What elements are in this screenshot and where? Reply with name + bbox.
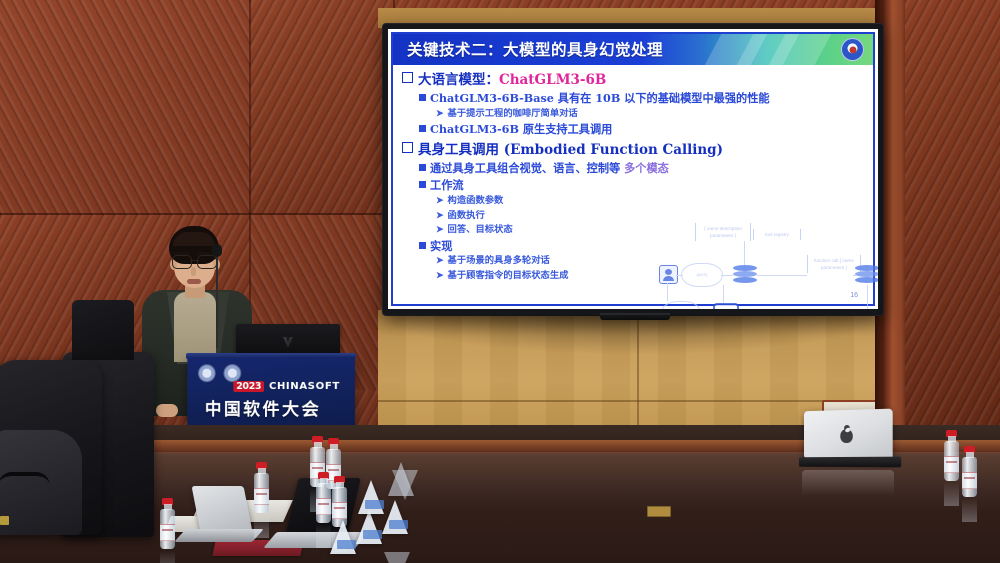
name-card-holder xyxy=(382,500,408,534)
wood-panel-seam-h xyxy=(378,400,898,402)
bullet-text: 大语言模型： xyxy=(418,72,499,88)
edge-user-answer xyxy=(667,283,668,301)
bullet-text: 基于顾客指令的目标状态生成 xyxy=(448,270,569,281)
bullet-highlight: ChatGLM3-6B xyxy=(499,72,606,88)
edge-db-fc xyxy=(757,275,807,276)
bullet-text: 函数执行 xyxy=(448,210,485,221)
bullet-l3-prompt-dialog: ➤基于提示工程的咖啡厅简单对话 xyxy=(436,107,868,122)
microphone-icon xyxy=(212,244,222,257)
arrow-bullet-icon: ➤ xyxy=(436,210,444,224)
arrow-bullet-icon: ➤ xyxy=(436,255,444,269)
query-cloud: query xyxy=(681,263,723,287)
bullet-l3-build-params: ➤构造函数参数 xyxy=(436,194,868,209)
podium-english-title: CHINASOFT xyxy=(269,381,340,392)
arrow-bullet-icon: ➤ xyxy=(436,108,444,122)
wall-panel-right xyxy=(905,0,1000,430)
bullet-l3-exec: ➤函数执行 xyxy=(436,209,868,224)
bullet-text: 实现 xyxy=(430,239,452,253)
backpack-logo xyxy=(0,516,9,525)
arrow-bullet-icon: ➤ xyxy=(436,224,444,238)
table-nameplate xyxy=(647,506,671,517)
speaker-shirt xyxy=(174,292,216,362)
bullet-text: 回答、目标状态 xyxy=(448,224,513,235)
bullet-highlight: 多个模态 xyxy=(624,161,669,175)
presentation-display: 关键技术二：大模型的具身幻觉处理 大语言模型：ChatGLM3-6B ChatG… xyxy=(383,24,883,315)
name-card-reflection xyxy=(384,552,410,563)
bullet-text: 基于提示工程的咖啡厅简单对话 xyxy=(448,108,578,119)
bullet-l2-workflow: 工作流 xyxy=(419,177,868,194)
wall-panel-upper-mid xyxy=(250,0,395,215)
backpack-strap xyxy=(0,472,50,486)
apple-logo-icon xyxy=(840,429,853,443)
slide-title: 关键技术二：大模型的具身幻觉处理 xyxy=(407,36,663,64)
database-cylinder-2 xyxy=(855,265,878,284)
bullet-text: 工作流 xyxy=(430,178,464,192)
bullet-text: 通过具身工具组合视觉、语言、控制等 xyxy=(430,161,624,175)
macbook-base xyxy=(799,457,901,468)
macbook-lid xyxy=(804,409,893,462)
speaker-glasses xyxy=(171,255,218,267)
slide-canvas: 关键技术二：大模型的具身幻觉处理 大语言模型：ChatGLM3-6B ChatG… xyxy=(388,29,878,309)
slide-page-number: 16 xyxy=(850,292,858,299)
name-card-holder xyxy=(330,520,356,554)
bullet-text: ChatGLM3-6B-Base 具有在 10B 以下的基础模型中最强的性能 xyxy=(430,91,770,105)
edge-schema-db xyxy=(744,241,745,265)
tool-schema-box: { name description parameters } xyxy=(695,223,751,241)
answer-cloud: answer xyxy=(661,301,701,309)
display-stand xyxy=(600,313,670,320)
arrow-bullet-icon: ➤ xyxy=(436,195,444,209)
institution-seal-logo xyxy=(841,38,864,61)
wood-panel-seam-v xyxy=(637,316,639,428)
solid-square-bullet-icon xyxy=(419,181,426,188)
podium-seal-right xyxy=(224,365,240,381)
bullet-text: 基于场景的具身多轮对话 xyxy=(448,255,550,266)
open-laptop xyxy=(196,486,248,532)
podium-seal-left xyxy=(199,365,215,381)
solid-square-bullet-icon xyxy=(419,242,426,249)
name-card-holder xyxy=(358,480,384,514)
edge-fc-db2 xyxy=(853,275,857,276)
arrow-bullet-icon: ➤ xyxy=(436,270,444,284)
bullet-text: ChatGLM3-6B 原生支持工具调用 xyxy=(430,122,612,136)
edge-query-robot xyxy=(723,285,724,303)
bullet-l1-llm: 大语言模型：ChatGLM3-6B xyxy=(402,71,868,90)
bullet-text: 具身工具调用 (Embodied Function Calling) xyxy=(418,142,723,158)
edge-query-db xyxy=(721,275,733,276)
solid-square-bullet-icon xyxy=(419,94,426,101)
macbook-reflection xyxy=(802,470,894,496)
edge-db2-down xyxy=(867,285,868,309)
function-calling-workflow-diagram: { name description parameters } tool reg… xyxy=(657,223,878,309)
macbook-laptop xyxy=(800,410,904,470)
bullet-l1-embodied-fc: 具身工具调用 (Embodied Function Calling) xyxy=(402,141,868,160)
backpack xyxy=(0,430,82,535)
bullet-text: 构造函数参数 xyxy=(448,195,504,206)
bullet-l2-base-model: ChatGLM3-6B-Base 具有在 10B 以下的基础模型中最强的性能 xyxy=(419,90,868,107)
solid-square-bullet-icon xyxy=(419,164,426,171)
tool-registry-box: tool registry xyxy=(753,229,801,240)
bullet-l2-native-tool: ChatGLM3-6B 原生支持工具调用 xyxy=(419,121,868,138)
speaker-hand xyxy=(156,404,178,417)
coat-on-chair xyxy=(72,300,134,360)
bullet-l2-modalities: 通过具身工具组合视觉、语言、控制等 多个模态 xyxy=(419,160,868,177)
function-call-box: function call { name parameters } xyxy=(807,255,861,273)
robot-icon xyxy=(713,303,739,309)
speaker-mouth xyxy=(187,279,201,284)
slide-body: 大语言模型：ChatGLM3-6B ChatGLM3-6B-Base 具有在 1… xyxy=(402,71,868,303)
speaker-nose xyxy=(191,267,196,276)
conference-podium: 2023 CHINASOFT 中国软件大会 xyxy=(187,357,355,428)
microphone-stand xyxy=(216,252,218,348)
podium-year: 2023 xyxy=(233,381,264,392)
solid-square-bullet-icon xyxy=(419,125,426,132)
slide-title-bar: 关键技术二：大模型的具身幻觉处理 xyxy=(393,34,873,65)
database-cylinder-1 xyxy=(733,265,757,284)
hollow-square-bullet-icon xyxy=(402,72,413,83)
podium-chinese-title: 中国软件大会 xyxy=(205,395,321,420)
name-card-holder xyxy=(356,510,382,544)
hollow-square-bullet-icon xyxy=(402,142,413,153)
wall-panel-upper-left xyxy=(0,0,250,215)
name-card-holder xyxy=(388,462,414,496)
conference-room-scene: 关键技术二：大模型的具身幻觉处理 大语言模型：ChatGLM3-6B ChatG… xyxy=(0,0,1000,563)
edge-user-query xyxy=(676,275,683,276)
